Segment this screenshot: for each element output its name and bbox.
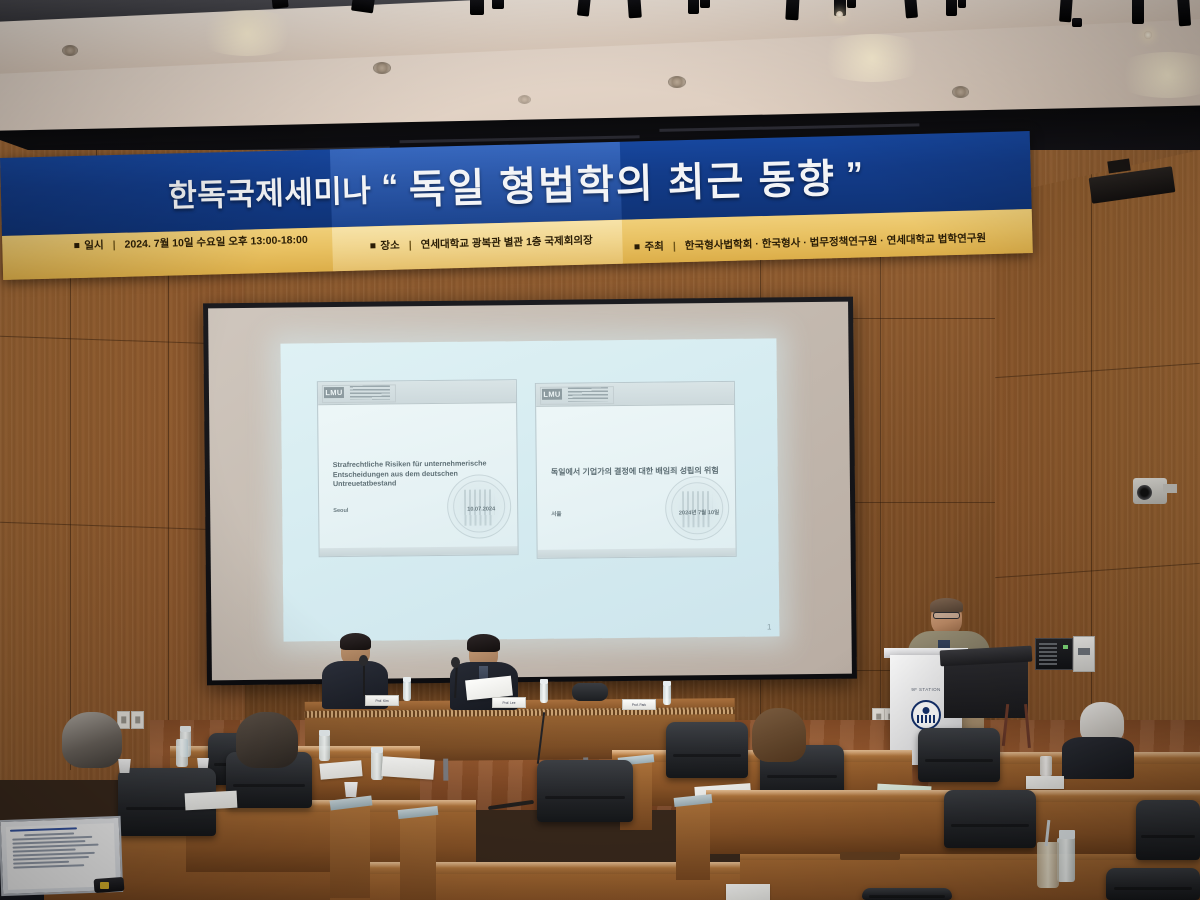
- meta-label: 장소: [380, 238, 400, 254]
- screen-surface: LMU Strafrechtliche Risiken für unterneh…: [208, 302, 852, 681]
- desk-end-panel: [676, 800, 710, 880]
- status-led-icon: [1063, 645, 1068, 649]
- water-bottle: [403, 681, 411, 701]
- audience-chair[interactable]: [944, 790, 1036, 848]
- camera-mount-arm: [1163, 484, 1177, 493]
- lecture-hall-photo: 한독국제세미나 “ 독일 형법학의 최근 동향 ” 일시 | 2024. 7월 …: [0, 0, 1200, 900]
- lmu-logo: LMU: [324, 387, 344, 398]
- slide-title: 독일에서 기업가의 결정에 대한 배임죄 성립의 위험: [551, 466, 719, 479]
- stage-light: [946, 0, 957, 16]
- bullet-square-icon: [634, 244, 639, 249]
- banner-meta-date: 일시 | 2024. 7월 10일 수요일 오후 13:00-18:00: [74, 232, 308, 253]
- meta-separator: |: [409, 239, 412, 251]
- water-glass: [1040, 756, 1052, 776]
- paper-sheet: [726, 884, 770, 900]
- iced-drink-cup: [1037, 842, 1059, 888]
- stage-light: [688, 0, 699, 14]
- meta-label: 일시: [84, 237, 104, 253]
- microphone-head-icon: [359, 655, 368, 666]
- slide-place: 서울: [551, 510, 561, 518]
- smartphone[interactable]: [94, 877, 125, 893]
- water-bottle: [319, 735, 330, 761]
- water-bottle: [176, 739, 188, 767]
- audience-chair[interactable]: [537, 760, 633, 822]
- desk-end-panel: [330, 802, 370, 898]
- table-leg: [443, 759, 448, 781]
- attendee-head: [62, 712, 122, 768]
- ceiling-vent: [373, 62, 391, 74]
- bottle-cap: [663, 681, 671, 686]
- slide-german: LMU Strafrechtliche Risiken für unterneh…: [317, 379, 519, 557]
- meta-value: 2024. 7월 10일 수요일 오후 13:00-18:00: [124, 232, 308, 252]
- slide-date: 10.07.2024: [467, 506, 495, 512]
- attendee-head: [752, 708, 806, 762]
- microphone-stand: [363, 662, 365, 696]
- stage-light: [847, 0, 856, 8]
- panelist-hair: [467, 634, 500, 652]
- meta-separator: |: [673, 240, 676, 252]
- switch-icon: [1078, 648, 1090, 655]
- phone-sticker-icon: [100, 882, 109, 889]
- audience-chair[interactable]: [862, 888, 952, 900]
- light-glow: [192, 10, 302, 56]
- bottle-cap: [1059, 830, 1075, 839]
- bottle-cap: [371, 747, 383, 753]
- water-bottle: [1057, 838, 1075, 882]
- banner-quote-open: “: [381, 167, 400, 206]
- attendee-torso: [1062, 737, 1134, 779]
- lectern-body: [944, 660, 1028, 718]
- name-placard: Prof. Park: [622, 699, 656, 710]
- ceiling-vent: [952, 86, 969, 98]
- audience-chair[interactable]: [666, 722, 748, 778]
- ceiling-vent: [62, 45, 78, 56]
- slide-number: 1: [767, 622, 772, 631]
- banner-title-prefix: 한독국제세미나: [168, 165, 372, 215]
- panelist-hair: [340, 633, 371, 650]
- audience-chair[interactable]: [918, 728, 1000, 782]
- wall-camera: [1133, 478, 1167, 504]
- ceiling-vent: [518, 95, 531, 104]
- control-panel-buttons[interactable]: [1039, 643, 1057, 665]
- desk-cable-grommet: [840, 852, 900, 860]
- bottle-cap: [319, 730, 330, 736]
- paper-stack: [381, 756, 434, 780]
- camera-lens-icon: [1137, 485, 1152, 500]
- lmu-logo: LMU: [542, 389, 562, 400]
- bullet-square-icon: [74, 243, 79, 248]
- slide-title: Strafrechtliche Risiken für unternehmeri…: [333, 458, 505, 489]
- bullet-square-icon: [370, 243, 375, 248]
- name-placard: Prof. Kim: [365, 695, 399, 706]
- lmu-wordmark-lines: [350, 385, 390, 399]
- slide-date: 2024년 7월 10일: [679, 508, 719, 516]
- banner-meta-host: 주최 | 한국형사법학회 · 한국형사 · 법무정책연구원 · 연세대학교 법학…: [634, 230, 986, 254]
- stage-light: [785, 0, 799, 20]
- meta-value: 연세대학교 광복관 별관 1층 국제회의장: [420, 233, 592, 252]
- stage-light: [1177, 0, 1191, 26]
- slide-place: Seoul: [333, 508, 348, 514]
- stage-light: [1059, 0, 1073, 22]
- banner-meta-venue: 장소 | 연세대학교 광복관 별관 1층 국제회의장: [370, 233, 593, 254]
- banner-quote-close: ”: [845, 155, 864, 194]
- stage-light: [492, 0, 504, 9]
- light-glow: [812, 34, 932, 82]
- room-control-panel[interactable]: [1035, 638, 1073, 670]
- ceiling-spotlight: [1144, 31, 1152, 39]
- audience-chair[interactable]: [1106, 868, 1200, 900]
- desk-end-panel: [400, 812, 436, 900]
- water-bottle: [540, 683, 548, 703]
- audience-chair[interactable]: [1136, 800, 1200, 860]
- lmu-wordmark-lines: [568, 387, 608, 401]
- name-placard: Prof. Lee: [492, 697, 526, 708]
- attendee-head: [236, 712, 298, 768]
- stage-light: [627, 0, 642, 18]
- stage-light: [958, 0, 966, 8]
- microphone-head-icon: [451, 657, 460, 668]
- paper-sheet: [185, 791, 238, 811]
- paper-sheet: [1026, 776, 1064, 789]
- power-outlet: [131, 711, 144, 729]
- panel-chair: [572, 683, 608, 701]
- meta-value: 한국형사법학회 · 한국형사 · 법무정책연구원 · 연세대학교 법학연구원: [685, 230, 987, 253]
- water-bottle: [663, 685, 671, 705]
- bottle-cap: [180, 726, 191, 732]
- bottle-cap: [540, 679, 548, 684]
- banner-title-main: 독일 형법학의 최근 동향: [408, 146, 837, 215]
- stage-light: [577, 0, 591, 17]
- wall-switch-plate[interactable]: [1073, 636, 1095, 672]
- ceiling-spotlight: [836, 11, 843, 18]
- speaker-hair: [930, 598, 963, 613]
- stage-light: [470, 0, 484, 15]
- projection-screen: LMU Strafrechtliche Risiken für unterneh…: [203, 297, 857, 686]
- stage-light: [1132, 0, 1144, 24]
- meta-label: 주최: [644, 239, 664, 255]
- stage-light: [1072, 18, 1082, 27]
- university-emblem-icon: [911, 700, 941, 730]
- stage-light: [700, 0, 710, 8]
- slide-korean: LMU 독일에서 기업가의 결정에 대한 배임죄 성립의 위험 서울 2024년…: [535, 381, 737, 559]
- ceiling-vent: [668, 76, 686, 88]
- bottle-cap: [403, 677, 411, 682]
- eyeglasses-icon: [933, 612, 960, 619]
- slide-footer-strip: [538, 548, 736, 558]
- slide-footer-strip: [320, 546, 518, 556]
- stage-light: [904, 0, 918, 18]
- projected-image: LMU Strafrechtliche Risiken für unterneh…: [280, 338, 779, 641]
- meta-separator: |: [112, 239, 115, 251]
